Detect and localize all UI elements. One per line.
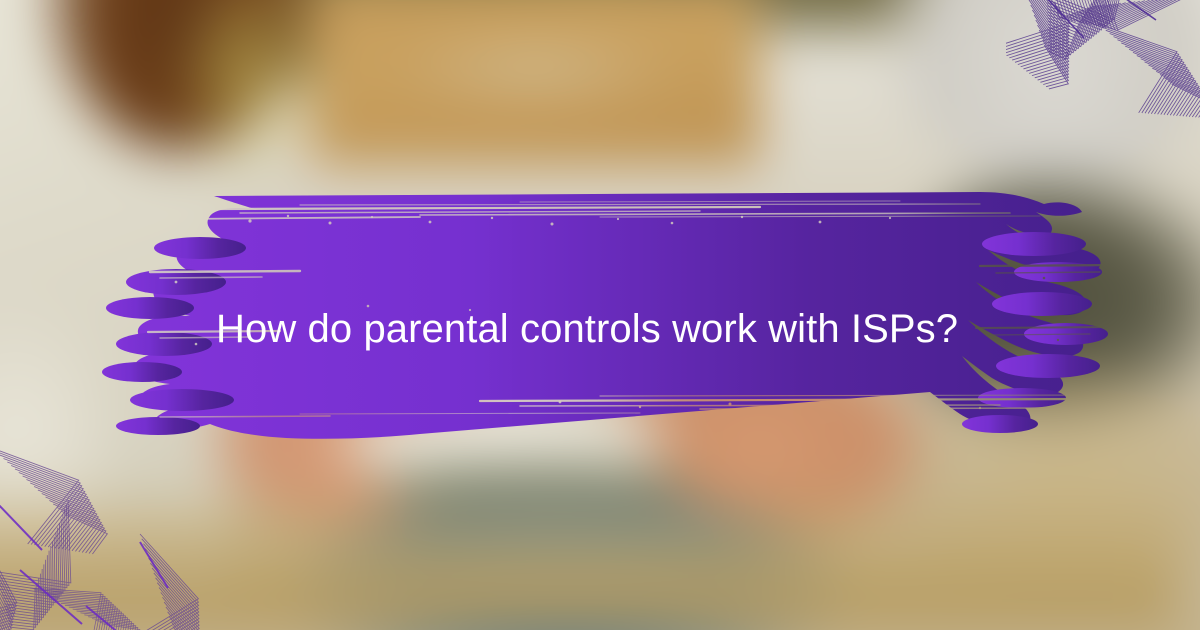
page-title: How do parental controls work with ISPs? bbox=[216, 303, 1016, 355]
social-card: How do parental controls work with ISPs? bbox=[0, 0, 1200, 630]
background-box-label bbox=[410, 35, 660, 105]
background-floor bbox=[0, 480, 1180, 630]
